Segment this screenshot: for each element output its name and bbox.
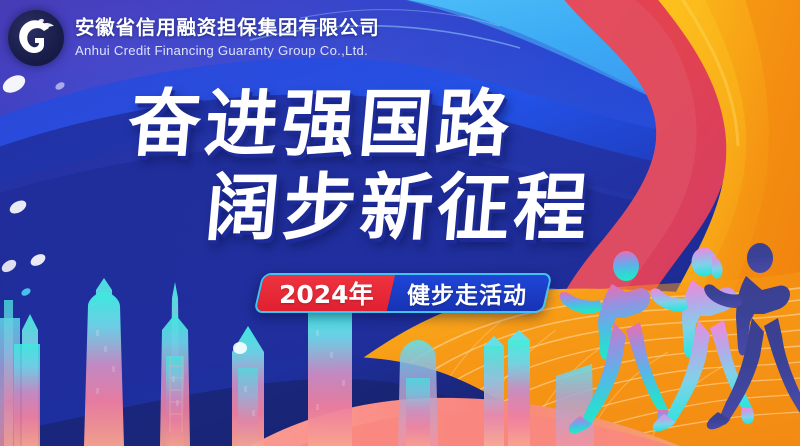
brand-lockup: 安徽省信用融资担保集团有限公司 Anhui Credit Financing G… [8,10,380,66]
headline-block: 奋进强国路 阔步新征程 [0,88,700,245]
brand-text-block: 安徽省信用融资担保集团有限公司 Anhui Credit Financing G… [75,19,380,57]
ribbon-year-label: 2024年 [279,275,374,311]
ribbon-year-section: 2024年 [256,275,395,311]
headline-line-1: 奋进强国路 [125,88,703,161]
ribbon-event-label: 健步走活动 [407,276,527,310]
company-g-logo-icon [8,10,64,66]
headline-line-2: 阔步新征程 [203,172,703,245]
ribbon-event-section: 健步走活动 [386,275,549,311]
promo-banner: 安徽省信用融资担保集团有限公司 Anhui Credit Financing G… [0,0,800,446]
company-name-en: Anhui Credit Financing Guaranty Group Co… [75,44,380,57]
company-name-cn: 安徽省信用融资担保集团有限公司 [75,19,380,39]
event-ribbon: 2024年 健步走活动 [253,273,552,313]
